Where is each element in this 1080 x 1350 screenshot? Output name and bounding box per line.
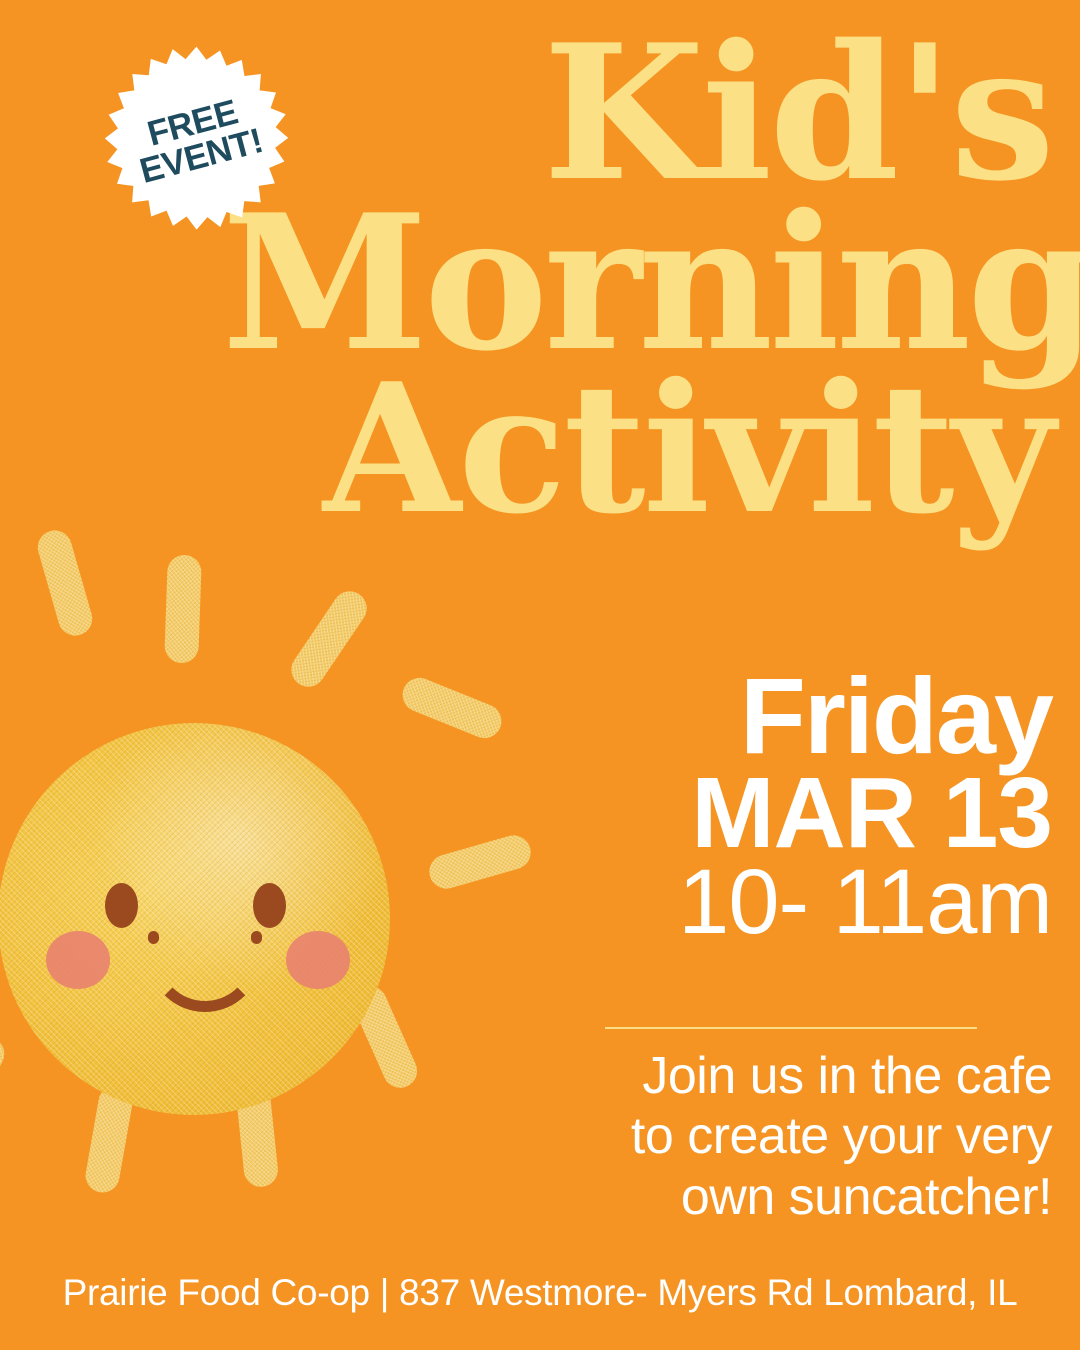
page-title: Kid's Morning Activity [222, 26, 1052, 533]
sun-smile-icon [148, 928, 262, 1012]
sun-cheek-left [46, 931, 110, 989]
event-date-block: Friday MAR 13 10- 11am [452, 662, 1052, 948]
sun-ray [348, 981, 423, 1093]
description-line-1: Join us in the cafe [422, 1046, 1052, 1106]
event-date: MAR 13 [452, 764, 1052, 862]
description-line-2: to create your very [422, 1106, 1052, 1166]
event-description: Join us in the cafe to create your very … [422, 1046, 1052, 1227]
sun-ray [164, 554, 202, 663]
sun-ray [285, 585, 374, 694]
event-time: 10- 11am [452, 856, 1052, 948]
event-day: Friday [452, 662, 1052, 770]
sun-ray [34, 526, 96, 639]
sun-cheek-right [286, 931, 350, 989]
sun-eye-right [253, 883, 286, 928]
title-line-activity: Activity [222, 364, 1052, 533]
sun-ray [83, 1083, 135, 1195]
description-line-3: own suncatcher! [422, 1167, 1052, 1227]
sun-ray [0, 1031, 10, 1143]
poster-canvas: FREE EVENT! Kid's Morning Activity Frida… [0, 0, 1080, 1350]
venue-address: Prairie Food Co-op | 837 Westmore- Myers… [0, 1272, 1080, 1314]
divider-rule [605, 1027, 977, 1029]
sun-face [0, 723, 390, 1115]
sun-ray [234, 1078, 279, 1189]
sun-eye-left [105, 883, 138, 928]
